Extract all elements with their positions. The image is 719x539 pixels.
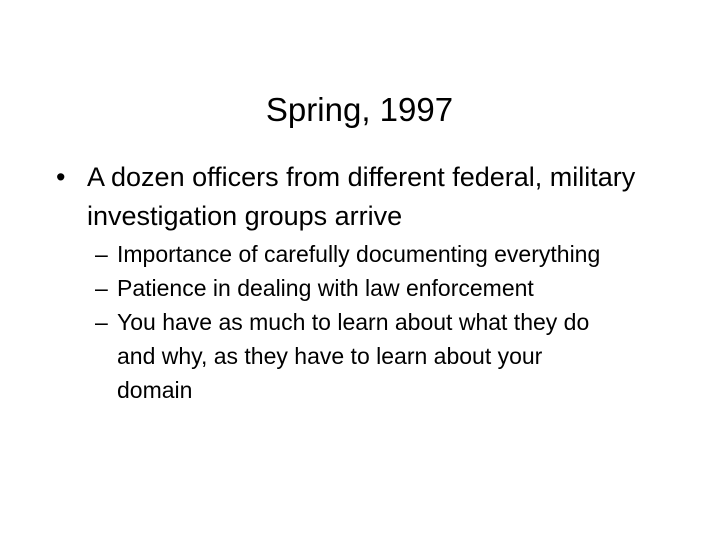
sub-bullet-list: – Importance of carefully documenting ev… (56, 237, 666, 407)
bullet-marker-dash-icon: – (95, 237, 117, 271)
bullet-item-level2: – Importance of carefully documenting ev… (56, 237, 666, 271)
slide-title: Spring, 1997 (0, 90, 719, 130)
bullet-item-level2: – Patience in dealing with law enforceme… (56, 271, 666, 305)
bullet-item-level1: • A dozen officers from different federa… (56, 158, 666, 236)
bullet-text-level2: Importance of carefully documenting ever… (117, 237, 617, 271)
bullet-text-level2: Patience in dealing with law enforcement (117, 271, 647, 305)
bullet-text-level1: A dozen officers from different federal,… (87, 158, 640, 236)
bullet-marker-dash-icon: – (95, 305, 117, 339)
bullet-marker-dash-icon: – (95, 271, 117, 305)
slide-body-content: • A dozen officers from different federa… (56, 158, 666, 407)
bullet-item-level2: – You have as much to learn about what t… (56, 305, 666, 407)
presentation-slide: Spring, 1997 • A dozen officers from dif… (0, 0, 719, 539)
bullet-text-level2: You have as much to learn about what the… (117, 305, 617, 407)
bullet-marker-dot-icon: • (56, 158, 87, 197)
